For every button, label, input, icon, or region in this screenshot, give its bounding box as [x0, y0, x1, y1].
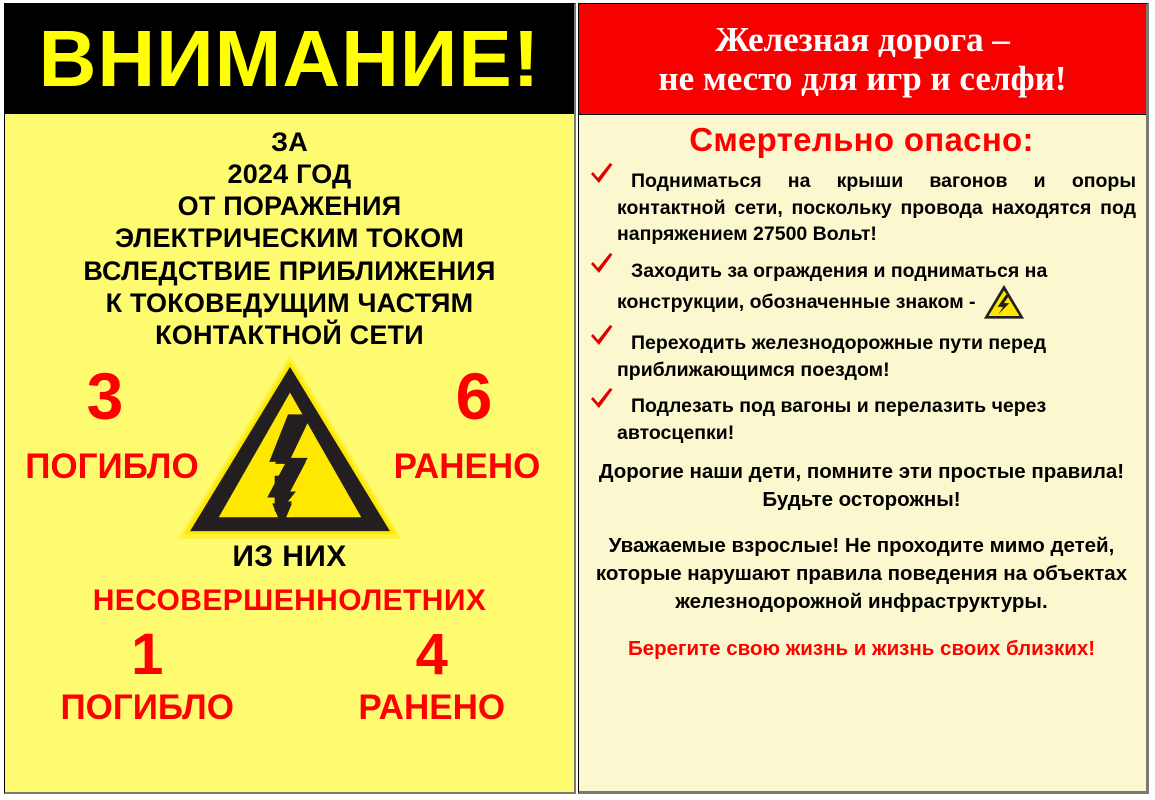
rule-item-2: Заходить за ограждения и подниматься на …	[587, 258, 1136, 321]
intro-line-2: 2024 ГОД	[5, 158, 574, 190]
total-statistics-row: 3 ПОГИБЛО	[5, 353, 574, 538]
red-check-icon	[589, 324, 615, 350]
rule-text-2: Заходить за ограждения и подниматься на …	[617, 258, 1136, 321]
closing-message: Берегите свою жизнь и жизнь своих близки…	[587, 635, 1136, 663]
children-note: Дорогие наши дети, помните эти простые п…	[587, 458, 1136, 515]
intro-line-7: КОНТАКТНОЙ СЕТИ	[5, 319, 574, 351]
safety-poster: ВНИМАНИЕ! ЗА 2024 ГОД ОТ ПОРАЖЕНИЯ ЭЛЕКТ…	[0, 0, 1155, 800]
rule-item-4: Подлезать под вагоны и перелазить через …	[587, 393, 1136, 446]
minors-label: НЕСОВЕРШЕННОЛЕТНИХ	[93, 584, 487, 618]
minors-killed-group: 1 ПОГИБЛО	[5, 626, 290, 725]
rule-item-3: Переходить железнодорожные пути перед пр…	[587, 330, 1136, 383]
deadly-danger-heading: Смертельно опасно:	[587, 121, 1136, 159]
minors-statistics-row: 1 ПОГИБЛО 4 РАНЕНО	[5, 626, 574, 725]
right-panel: Железная дорога – не место для игр и сел…	[578, 0, 1155, 800]
banner-line-2: не место для игр и селфи!	[658, 59, 1066, 98]
rule-item-1: Подниматься на крыши вагонов и опоры кон…	[587, 168, 1136, 248]
minors-killed-label: ПОГИБЛО	[5, 690, 290, 725]
rule-text-3: Переходить железнодорожные пути перед пр…	[617, 330, 1136, 383]
attention-title: ВНИМАНИЕ!	[39, 19, 541, 99]
rules-body: Смертельно опасно: Подниматься на крыши …	[579, 115, 1146, 791]
statistics-intro: ЗА 2024 ГОД ОТ ПОРАЖЕНИЯ ЭЛЕКТРИЧЕСКИМ Т…	[5, 126, 574, 351]
rule-text-4: Подлезать под вагоны и перелазить через …	[617, 393, 1136, 446]
total-injured-group: 6 РАНЕНО	[374, 363, 574, 484]
adults-note: Уважаемые взрослые! Не проходите мимо де…	[587, 532, 1136, 617]
minors-injured-count: 4	[290, 626, 575, 684]
intro-line-3: ОТ ПОРАЖЕНИЯ	[5, 190, 574, 222]
intro-line-1: ЗА	[5, 126, 574, 158]
left-panel-frame: ВНИМАНИЕ! ЗА 2024 ГОД ОТ ПОРАЖЕНИЯ ЭЛЕКТ…	[4, 3, 576, 794]
red-check-icon	[589, 162, 615, 188]
intro-line-6: К ТОКОВЕДУЩИМ ЧАСТЯМ	[5, 287, 574, 319]
right-panel-frame: Железная дорога – не место для игр и сел…	[578, 3, 1149, 794]
left-statistics-body: ЗА 2024 ГОД ОТ ПОРАЖЕНИЯ ЭЛЕКТРИЧЕСКИМ Т…	[5, 114, 574, 792]
banner-line-1: Железная дорога –	[715, 20, 1010, 59]
minors-injured-group: 4 РАНЕНО	[290, 626, 575, 725]
red-check-icon	[589, 252, 615, 278]
minors-injured-label: РАНЕНО	[290, 690, 575, 725]
total-injured-count: 6	[374, 363, 574, 429]
high-voltage-triangle-icon	[983, 284, 1025, 320]
railway-banner: Железная дорога – не место для игр и сел…	[579, 4, 1146, 115]
rule-text-1: Подниматься на крыши вагонов и опоры кон…	[617, 168, 1136, 248]
minors-killed-count: 1	[5, 626, 290, 684]
of-which-label: ИЗ НИХ	[232, 540, 346, 574]
intro-line-5: ВСЛЕДСТВИЕ ПРИБЛИЖЕНИЯ	[5, 255, 574, 287]
intro-line-4: ЭЛЕКТРИЧЕСКИМ ТОКОМ	[5, 222, 574, 254]
red-check-icon	[589, 387, 615, 413]
total-injured-label: РАНЕНО	[374, 449, 560, 484]
attention-banner: ВНИМАНИЕ!	[5, 4, 574, 114]
left-panel: ВНИМАНИЕ! ЗА 2024 ГОД ОТ ПОРАЖЕНИЯ ЭЛЕКТ…	[0, 0, 578, 800]
high-voltage-triangle-icon	[175, 353, 405, 541]
